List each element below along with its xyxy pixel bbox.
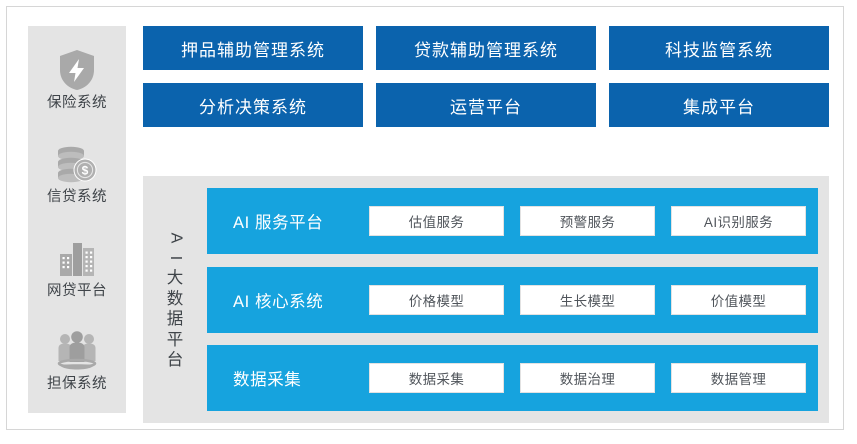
vertical-title-char: 平 <box>167 332 184 349</box>
systems-row-2: 分析决策系统 运营平台 集成平台 <box>143 83 829 127</box>
sidebar-item-label: 网贷平台 <box>47 284 107 299</box>
vertical-title-char: 数 <box>167 291 184 308</box>
sidebar-item-online-lending[interactable]: 网贷平台 <box>28 235 126 299</box>
ai-layer-card-list: 估值服务 预警服务 AI识别服务 <box>369 206 806 236</box>
sidebar: 保险系统 $ 信贷 <box>28 26 126 413</box>
architecture-diagram-frame: 保险系统 $ 信贷 <box>6 6 844 430</box>
systems-row-1: 押品辅助管理系统 贷款辅助管理系统 科技监管系统 <box>143 26 829 70</box>
ai-layer-title: 数据采集 <box>219 366 369 390</box>
sidebar-item-credit[interactable]: $ 信贷系统 <box>28 141 126 205</box>
ai-card-growth-model[interactable]: 生长模型 <box>520 285 655 315</box>
system-button-loan-aux-management[interactable]: 贷款辅助管理系统 <box>376 26 596 70</box>
sidebar-item-label: 保险系统 <box>47 96 107 111</box>
system-button-analysis-decision[interactable]: 分析决策系统 <box>143 83 363 127</box>
system-button-operations-platform[interactable]: 运营平台 <box>376 83 596 127</box>
vertical-title-char: I <box>167 256 183 260</box>
shield-bolt-icon <box>54 47 100 93</box>
coins-dollar-icon: $ <box>54 141 100 187</box>
ai-card-value-model[interactable]: 价值模型 <box>671 285 806 315</box>
ai-layer-title: AI 服务平台 <box>219 209 369 233</box>
ai-card-data-governance[interactable]: 数据治理 <box>520 363 655 393</box>
ai-card-data-collection[interactable]: 数据采集 <box>369 363 504 393</box>
ai-layer-core-system: AI 核心系统 价格模型 生长模型 价值模型 <box>207 267 818 333</box>
vertical-title-char: A <box>167 233 183 244</box>
ai-card-valuation-service[interactable]: 估值服务 <box>369 206 504 236</box>
ai-card-data-management[interactable]: 数据管理 <box>671 363 806 393</box>
ai-layer-card-list: 数据采集 数据治理 数据管理 <box>369 363 806 393</box>
system-button-tech-supervision[interactable]: 科技监管系统 <box>609 26 829 70</box>
ai-bigdata-platform-panel: A I 大 数 据 平 台 AI 服务平台 估值服务 预警服务 AI识别服务 A… <box>143 176 829 423</box>
ai-card-ai-recognition-service[interactable]: AI识别服务 <box>671 206 806 236</box>
ai-layer-title: AI 核心系统 <box>219 288 369 312</box>
ai-card-alert-service[interactable]: 预警服务 <box>520 206 655 236</box>
ai-layer-data-collection: 数据采集 数据采集 数据治理 数据管理 <box>207 345 818 411</box>
svg-text:$: $ <box>82 163 89 177</box>
ai-layer-rows: AI 服务平台 估值服务 预警服务 AI识别服务 AI 核心系统 价格模型 生长… <box>207 188 818 411</box>
buildings-icon <box>54 235 100 281</box>
sidebar-item-guarantee[interactable]: 担保系统 <box>28 328 126 392</box>
system-button-collateral-aux-management[interactable]: 押品辅助管理系统 <box>143 26 363 70</box>
ai-layer-service-platform: AI 服务平台 估值服务 预警服务 AI识别服务 <box>207 188 818 254</box>
people-group-icon <box>54 328 100 374</box>
vertical-title-char: 据 <box>167 311 184 328</box>
sidebar-item-insurance[interactable]: 保险系统 <box>28 47 126 111</box>
systems-button-grid: 押品辅助管理系统 贷款辅助管理系统 科技监管系统 分析决策系统 运营平台 集成平… <box>143 26 829 140</box>
sidebar-item-label: 担保系统 <box>47 377 107 392</box>
vertical-title-char: 台 <box>167 352 184 369</box>
system-button-integration-platform[interactable]: 集成平台 <box>609 83 829 127</box>
ai-card-price-model[interactable]: 价格模型 <box>369 285 504 315</box>
vertical-title-char: 大 <box>167 270 184 287</box>
ai-platform-vertical-title: A I 大 数 据 平 台 <box>143 188 207 411</box>
ai-layer-card-list: 价格模型 生长模型 价值模型 <box>369 285 806 315</box>
sidebar-item-label: 信贷系统 <box>47 190 107 205</box>
